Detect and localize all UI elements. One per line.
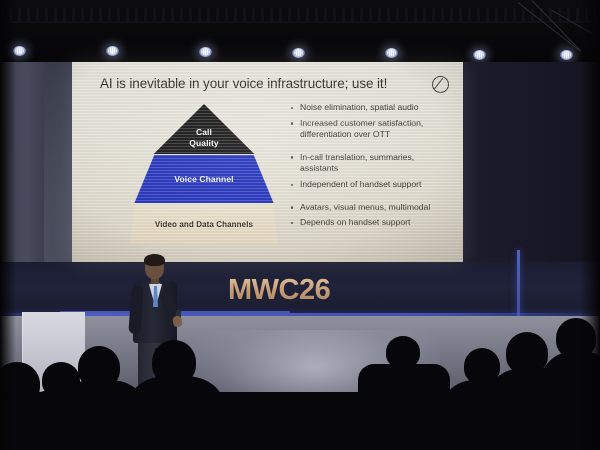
frame-vignette-left (0, 0, 16, 450)
bullet-item: In-call translation, summaries, assistan… (290, 152, 452, 175)
pyramid-tier-call-quality-line2: Quality (189, 138, 219, 149)
spotlight-3 (199, 47, 212, 57)
bullet-item: Independent of handset support (290, 179, 452, 191)
bullet-item: Avatars, visual menus, multimodal (290, 202, 452, 214)
slide-bullet-list: Noise elimination, spatial audio Increas… (290, 102, 452, 229)
pyramid-tier-call-quality-line1: Call (189, 127, 219, 138)
pyramid-tier-voice-channel-label: Voice Channel (174, 174, 233, 184)
pyramid-tier-call-quality: Call Quality (130, 104, 278, 154)
speaker-hand (172, 315, 183, 328)
spotlight-4 (292, 48, 305, 58)
conference-stage-photo: MWC26 AI is inevitable in your voice inf… (0, 0, 600, 450)
slide-title: AI is inevitable in your voice infrastru… (100, 76, 387, 91)
bullet-item: Noise elimination, spatial audio (290, 102, 452, 114)
ceiling-truss (0, 8, 600, 22)
pyramid-tier-video-and-data-channels: Video and Data Channels (130, 204, 278, 244)
circle-slash-logo-icon (432, 76, 449, 93)
spotlight-2 (106, 46, 119, 56)
audience-shoulders (358, 364, 450, 450)
bullet-group-call-quality: Noise elimination, spatial audio Increas… (290, 102, 452, 141)
mwc26-logo: MWC26 (228, 274, 330, 307)
pyramid-diagram: Call Quality Voice Channel Video and Dat… (130, 104, 278, 244)
audience-shoulders (196, 402, 276, 450)
bullet-group-voice-channel: In-call translation, summaries, assistan… (290, 152, 452, 191)
pyramid-tier-voice-channel: Voice Channel (130, 155, 278, 203)
speaker-hair (144, 254, 165, 266)
spotlight-6 (473, 50, 486, 60)
bullet-group-video-and-data-channels: Avatars, visual menus, multimodal Depend… (290, 202, 452, 229)
truss-bar (0, 21, 600, 23)
bullet-item: Depends on handset support (290, 217, 452, 229)
pyramid-tier-video-and-data-channels-label: Video and Data Channels (155, 220, 253, 229)
presentation-slide: AI is inevitable in your voice infrastru… (72, 62, 463, 262)
spotlight-5 (385, 48, 398, 58)
bullet-item: Increased customer satisfaction, differe… (290, 118, 452, 141)
frame-vignette-right (580, 0, 600, 450)
